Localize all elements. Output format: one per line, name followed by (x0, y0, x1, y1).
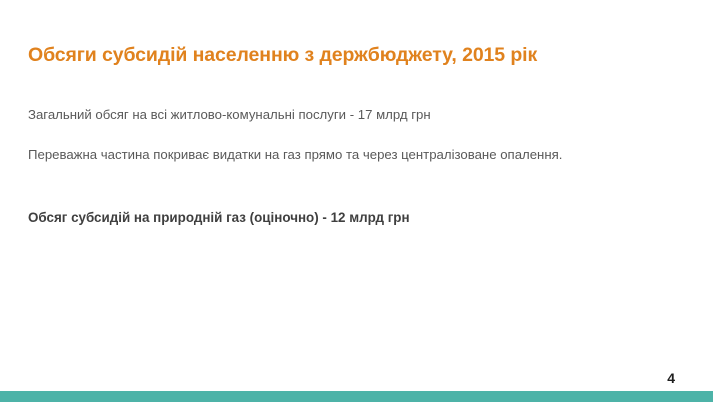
page-number: 4 (667, 371, 675, 385)
body-paragraph-2: Переважна частина покриває видатки на га… (28, 146, 562, 163)
footer-accent-bar (0, 391, 713, 402)
slide-title: Обсяги субсидій населенню з держбюджету,… (28, 44, 537, 67)
presentation-slide: Обсяги субсидій населенню з держбюджету,… (0, 0, 713, 402)
highlight-statement: Обсяг субсидій на природній газ (оціночн… (28, 209, 410, 226)
body-paragraph-1: Загальний обсяг на всі житлово-комунальн… (28, 106, 431, 123)
